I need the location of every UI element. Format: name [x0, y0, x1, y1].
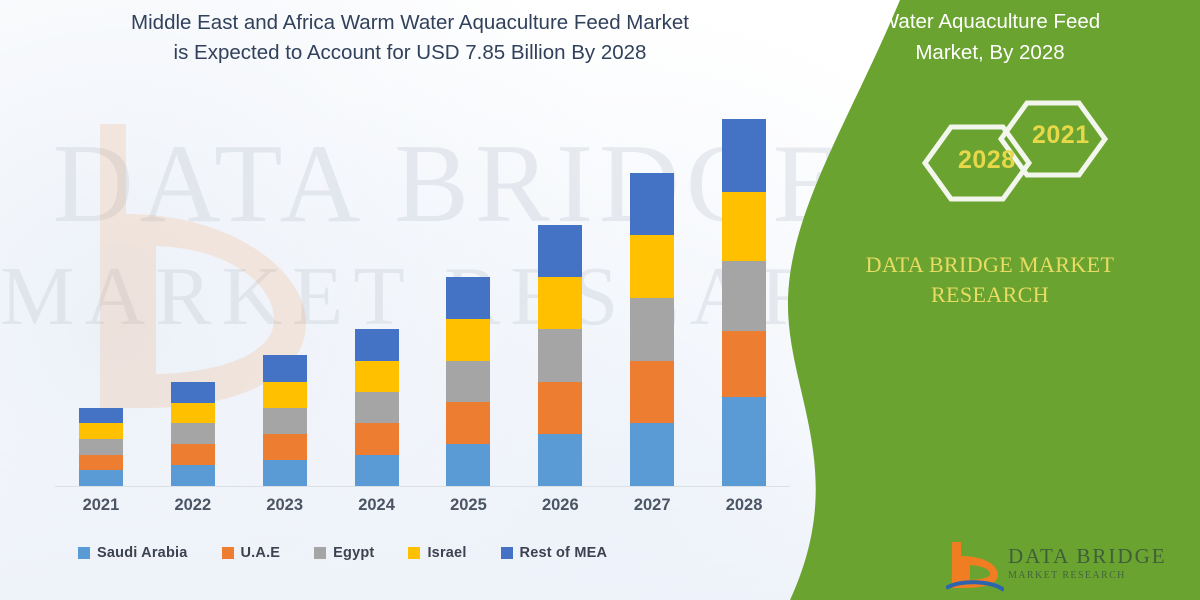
- data-bridge-logo-mark: [946, 538, 1004, 594]
- bar-2028: [722, 119, 766, 486]
- bar-segment: [630, 235, 674, 298]
- bar-segment: [171, 423, 215, 444]
- x-axis-label-2028: 2028: [714, 496, 774, 515]
- bar-segment: [355, 392, 399, 423]
- bar-segment: [79, 470, 123, 486]
- bar-2027: [630, 173, 674, 486]
- bar-segment: [171, 382, 215, 403]
- page-title-line-2: is Expected to Account for USD 7.85 Bill…: [40, 38, 780, 68]
- green-panel-brand: DATA BRIDGE MARKET RESEARCH: [780, 250, 1200, 310]
- x-axis-label-2024: 2024: [347, 496, 407, 515]
- legend-item-egypt[interactable]: Egypt: [314, 545, 374, 561]
- legend-item-saudi-arabia[interactable]: Saudi Arabia: [78, 545, 188, 561]
- bar-segment: [630, 298, 674, 361]
- bar-segment: [722, 192, 766, 262]
- bar-segment: [355, 329, 399, 360]
- legend-swatch-icon: [222, 547, 234, 559]
- bar-segment: [263, 382, 307, 408]
- bar-segment: [538, 225, 582, 277]
- green-panel-title: Water Aquaculture Feed Market, By 2028: [780, 6, 1200, 68]
- bar-2023: [263, 355, 307, 486]
- bar-2022: [171, 382, 215, 486]
- bar-segment: [538, 329, 582, 381]
- stacked-bar-chart: [55, 110, 790, 486]
- green-panel-brand-line-1: DATA BRIDGE MARKET: [866, 252, 1115, 277]
- bar-segment: [446, 361, 490, 403]
- green-panel-title-line-2: Market, By 2028: [806, 37, 1174, 68]
- x-axis-label-2027: 2027: [622, 496, 682, 515]
- legend-swatch-icon: [314, 547, 326, 559]
- bar-segment: [630, 361, 674, 424]
- bar-2024: [355, 329, 399, 486]
- chart-legend: Saudi ArabiaU.A.EEgyptIsraelRest of MEA: [78, 541, 778, 565]
- bar-segment: [171, 465, 215, 486]
- bar-segment: [446, 444, 490, 486]
- bar-segment: [263, 355, 307, 381]
- bar-segment: [171, 403, 215, 424]
- bar-segment: [355, 423, 399, 454]
- legend-label: U.A.E: [241, 545, 281, 561]
- bar-segment: [355, 361, 399, 392]
- bar-segment: [79, 455, 123, 471]
- x-axis-label-2022: 2022: [163, 496, 223, 515]
- bar-2026: [538, 225, 582, 486]
- legend-label: Israel: [427, 545, 466, 561]
- x-axis-label-2023: 2023: [255, 496, 315, 515]
- x-axis-label-2021: 2021: [71, 496, 131, 515]
- green-panel-brand-line-2: RESEARCH: [780, 280, 1200, 310]
- legend-item-u-a-e[interactable]: U.A.E: [222, 545, 281, 561]
- x-axis-labels: 20212022202320242025202620272028: [55, 496, 790, 524]
- bar-segment: [171, 444, 215, 465]
- legend-item-rest-of-mea[interactable]: Rest of MEA: [501, 545, 608, 561]
- bar-segment: [538, 382, 582, 434]
- green-panel-title-line-1: Water Aquaculture Feed: [880, 10, 1100, 33]
- x-axis-label-2025: 2025: [438, 496, 498, 515]
- bar-segment: [446, 402, 490, 444]
- green-side-panel: Water Aquaculture Feed Market, By 2028 2…: [780, 0, 1200, 600]
- bar-segment: [79, 408, 123, 424]
- bar-2025: [446, 277, 490, 486]
- logo-tagline: MARKET RESEARCH: [1008, 570, 1126, 581]
- hexagon-label-2021: 2021: [1032, 121, 1090, 150]
- hexagon-badges: 2028 2021: [780, 95, 1200, 225]
- bar-segment: [263, 460, 307, 486]
- bar-segment: [263, 408, 307, 434]
- legend-label: Rest of MEA: [520, 545, 608, 561]
- bar-segment: [446, 277, 490, 319]
- legend-label: Saudi Arabia: [97, 545, 188, 561]
- bar-segment: [79, 423, 123, 439]
- bar-segment: [630, 173, 674, 236]
- legend-swatch-icon: [408, 547, 420, 559]
- bar-segment: [722, 397, 766, 486]
- bar-segment: [722, 261, 766, 331]
- legend-label: Egypt: [333, 545, 374, 561]
- x-axis-label-2026: 2026: [530, 496, 590, 515]
- legend-item-israel[interactable]: Israel: [408, 545, 466, 561]
- infographic-root: DATA BRIDGE MARKET RESEARCH Middle East …: [0, 0, 1200, 600]
- bar-segment: [538, 277, 582, 329]
- bar-segment: [722, 119, 766, 191]
- bar-segment: [263, 434, 307, 460]
- bar-segment: [538, 434, 582, 486]
- page-title: Middle East and Africa Warm Water Aquacu…: [40, 8, 780, 68]
- chart-baseline: [55, 486, 790, 487]
- page-title-line-1: Middle East and Africa Warm Water Aquacu…: [131, 11, 689, 34]
- bar-segment: [355, 455, 399, 486]
- data-bridge-logo: DATA BRIDGE MARKET RESEARCH: [946, 536, 1176, 594]
- bar-segment: [446, 319, 490, 361]
- legend-swatch-icon: [501, 547, 513, 559]
- legend-swatch-icon: [78, 547, 90, 559]
- bar-segment: [722, 331, 766, 397]
- hexagon-label-2028: 2028: [958, 146, 1016, 175]
- bar-segment: [79, 439, 123, 455]
- bar-2021: [79, 408, 123, 486]
- bar-segment: [630, 423, 674, 486]
- logo-name: DATA BRIDGE: [1008, 544, 1167, 569]
